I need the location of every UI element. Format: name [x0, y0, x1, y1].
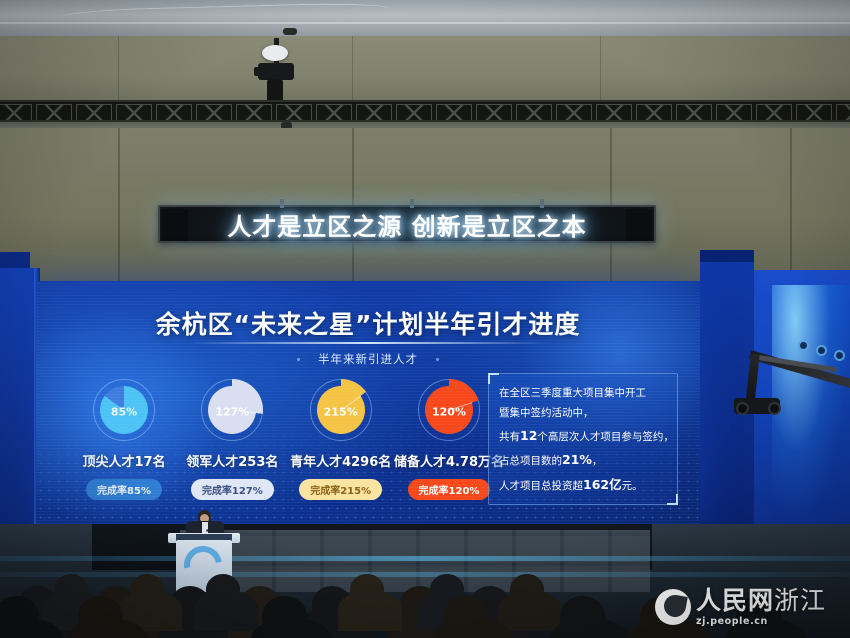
truss-segment	[76, 104, 112, 122]
ceiling-camera-icon	[258, 63, 294, 80]
truss-segment	[396, 104, 432, 122]
led-banner-text: 人才是立区之源 创新是立区之本	[227, 207, 586, 242]
truss-segment	[596, 104, 632, 122]
audience-head	[510, 574, 544, 605]
pie-chart: 85%	[93, 379, 155, 441]
metric-label: 顶尖人才17名	[82, 451, 165, 470]
truss-segment	[556, 104, 592, 122]
pie-percent-label: 85%	[100, 405, 148, 418]
completion-rate-badge: 完成率85%	[86, 479, 162, 500]
main-presentation-screen: 余杭区“未来之星”计划半年引才进度 半年来新引进人才 85%顶尖人才17名完成率…	[36, 281, 700, 524]
truss-segment	[316, 104, 352, 122]
metric-cell: 120%储备人才4.78万名完成率120%	[399, 379, 499, 504]
audience-head	[54, 574, 88, 605]
info-highlight-number: 12	[520, 428, 537, 443]
completion-rate-badge: 完成率215%	[299, 479, 382, 500]
metric-label: 领军人才253名	[186, 451, 278, 470]
slide-title: 余杭区“未来之星”计划半年引才进度	[36, 305, 700, 341]
pie-percent-label: 127%	[208, 405, 256, 418]
camera-jib-crane	[742, 336, 850, 416]
completion-rate-badge: 完成率127%	[191, 479, 274, 500]
audience-head	[78, 596, 123, 636]
conference-hall-photo: 人才是立区之源 创新是立区之本 余杭区“未来之星”计划半年引才进度 半年来新引进…	[0, 0, 850, 638]
pie-percent-label: 120%	[425, 405, 473, 418]
metric-label: 青年人才4296名	[290, 451, 391, 470]
pie-disc: 120%	[425, 386, 473, 434]
truss-segment	[836, 104, 850, 122]
audience-head	[130, 574, 164, 605]
truss-segment	[436, 104, 472, 122]
pie-disc: 85%	[100, 386, 148, 434]
ceiling	[0, 0, 850, 38]
audience-head	[560, 596, 605, 636]
subtitle-dot-right-icon	[436, 358, 439, 361]
info-text: 占总项目数的	[499, 455, 562, 467]
truss-segment	[196, 104, 232, 122]
info-text: 在全区三季度重大项目集中开工	[499, 387, 646, 399]
audience-head	[444, 596, 489, 636]
info-panel-line: 共有12个高层次人才项目参与签约，	[499, 424, 667, 448]
truss-segment	[636, 104, 672, 122]
info-panel-line: 占总项目数的21%，	[499, 448, 667, 472]
info-panel: 在全区三季度重大项目集中开工暨集中签约活动中，共有12个高层次人才项目参与签约，…	[488, 373, 678, 505]
truss-segment	[356, 104, 392, 122]
rig-dish-light	[262, 45, 288, 61]
led-banner: 人才是立区之源 创新是立区之本	[158, 205, 656, 243]
info-panel-line: 人才项目总投资超162亿元。	[499, 473, 667, 497]
lighting-truss	[0, 100, 850, 122]
truss-segment	[796, 104, 832, 122]
watermark-province: 浙江	[774, 586, 826, 615]
truss-segment	[476, 104, 512, 122]
slide-subtitle: 半年来新引进人才	[318, 352, 418, 366]
info-text: 元。	[622, 480, 643, 492]
truss-segment	[276, 104, 312, 122]
truss-segment	[36, 104, 72, 122]
truss-segment	[236, 104, 272, 122]
audience-head	[206, 574, 240, 605]
truss-segment	[756, 104, 792, 122]
title-divider	[188, 342, 548, 344]
truss-segment	[156, 104, 192, 122]
truss-segment	[0, 104, 32, 122]
metric-cell: 127%领军人才253名完成率127%	[182, 379, 282, 504]
audience-head	[0, 596, 39, 636]
watermark-title: 人民网浙江	[696, 588, 826, 613]
info-text: ，	[592, 455, 603, 467]
info-highlight-number: 162亿	[583, 477, 622, 492]
truss-segment	[116, 104, 152, 122]
slide-subtitle-row: 半年来新引进人才	[36, 351, 700, 367]
metric-pie-row: 85%顶尖人才17名完成率85%127%领军人才253名完成率127%215%青…	[74, 379, 499, 504]
audience-head	[350, 574, 384, 605]
completion-rate-badge: 完成率120%	[408, 479, 491, 500]
truss-segment	[516, 104, 552, 122]
pie-disc: 215%	[317, 386, 365, 434]
pie-disc: 127%	[208, 386, 256, 434]
ceiling-cable	[60, 2, 390, 25]
info-panel-line: 暨集中签约活动中，	[499, 403, 667, 423]
pie-chart: 127%	[201, 379, 263, 441]
pie-chart: 215%	[310, 379, 372, 441]
pie-chart: 120%	[418, 379, 480, 441]
info-text: 共有	[499, 431, 520, 443]
subtitle-dot-left-icon	[297, 358, 300, 361]
people-cn-logo-icon	[655, 589, 691, 625]
info-text: 个高层次人才项目参与签约，	[537, 431, 674, 443]
pie-percent-label: 215%	[317, 405, 365, 418]
info-panel-line: 在全区三季度重大项目集中开工	[499, 383, 667, 403]
watermark-url: zj.people.cn	[696, 616, 826, 627]
ceiling-lamp-icon	[283, 28, 297, 35]
watermark-brand: 人民网	[696, 586, 774, 615]
metric-cell: 215%青年人才4296名完成率215%	[291, 379, 391, 504]
info-text: 人才项目总投资超	[499, 480, 583, 492]
info-text: 暨集中签约活动中，	[499, 407, 594, 419]
truss-segment	[716, 104, 752, 122]
watermark: 人民网浙江 zj.people.cn	[655, 586, 843, 628]
audience-head	[262, 596, 307, 636]
info-highlight-number: 21%	[562, 452, 592, 467]
truss-segment	[676, 104, 712, 122]
upper-wall	[0, 36, 850, 104]
metric-cell: 85%顶尖人才17名完成率85%	[74, 379, 174, 504]
